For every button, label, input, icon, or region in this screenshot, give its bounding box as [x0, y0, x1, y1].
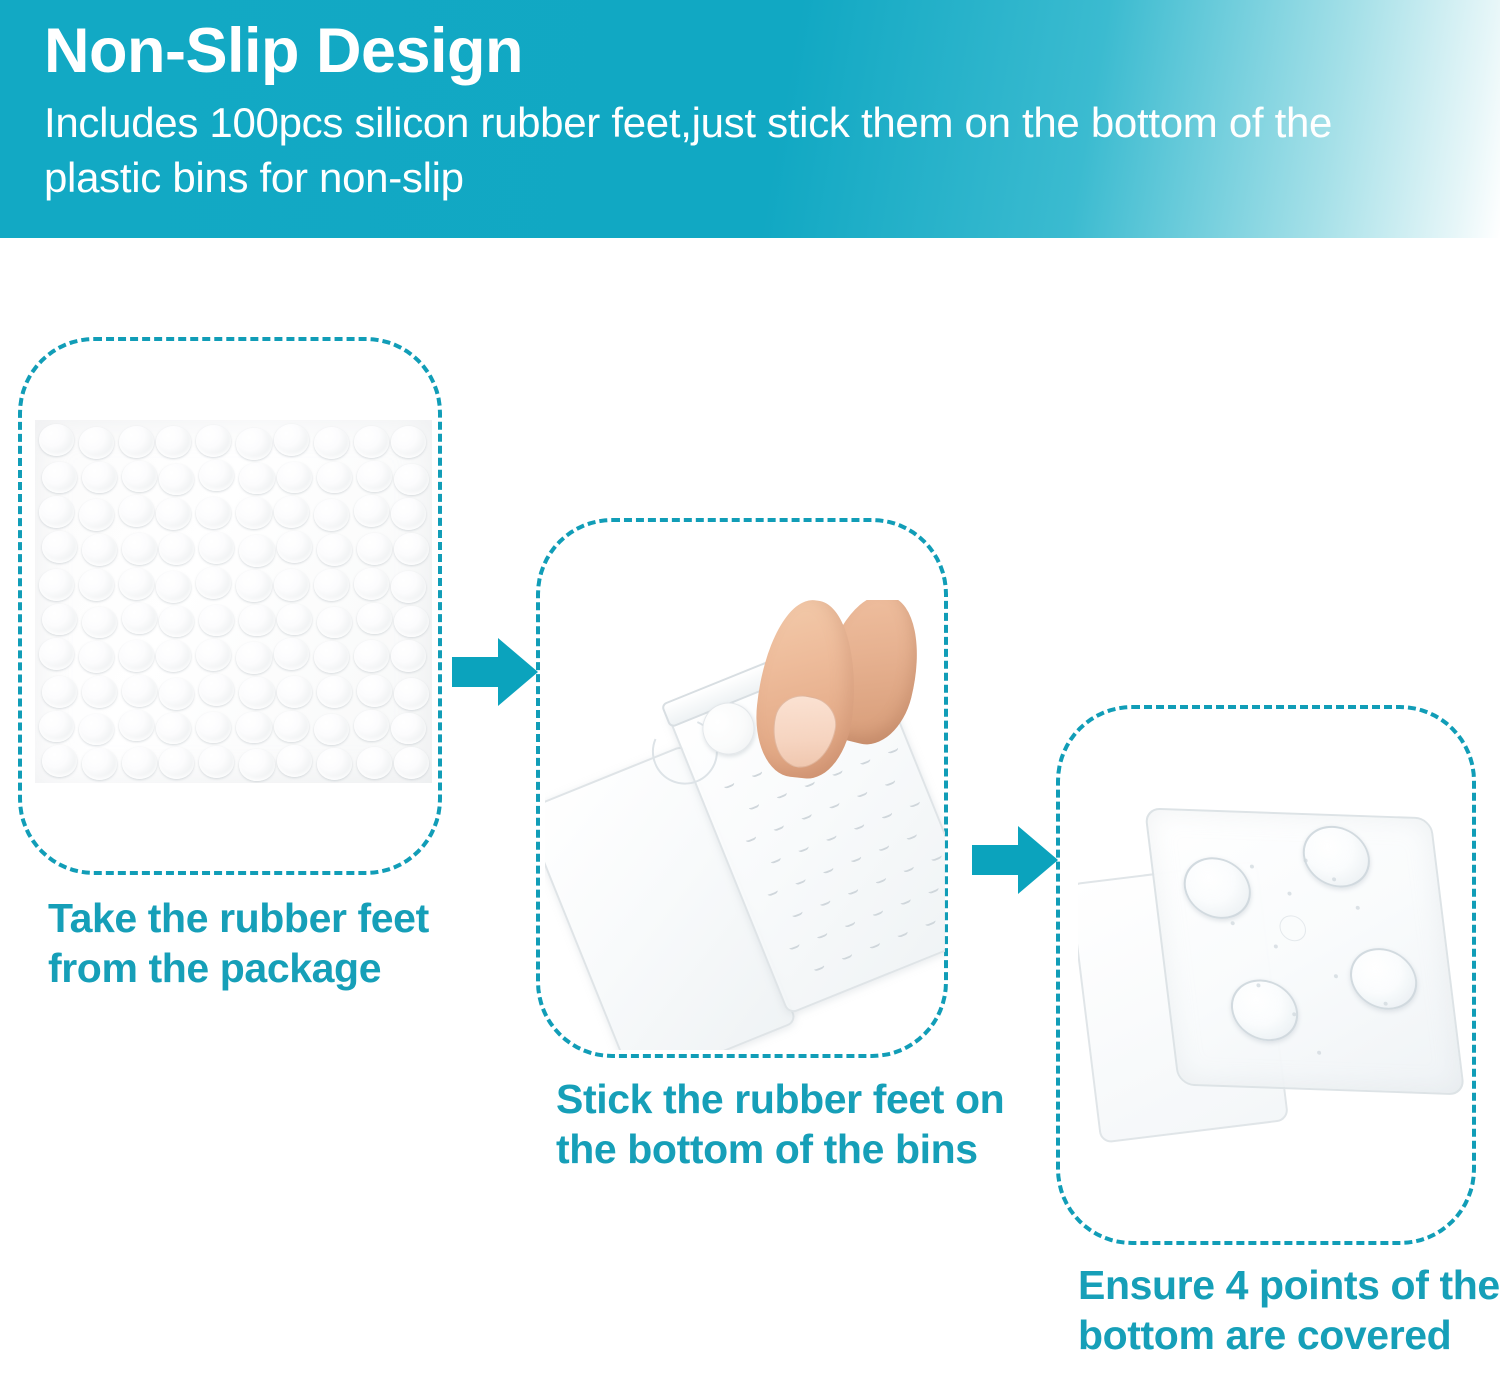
rubber-foot-dot: [357, 747, 392, 779]
rubber-foot-dot: [156, 571, 191, 603]
step-2-caption: Stick the rubber feet on the bottom of t…: [556, 1074, 1006, 1175]
rubber-foot-dot: [39, 496, 74, 528]
rubber-foot-dot: [354, 426, 389, 458]
rubber-foot-dot: [277, 462, 312, 494]
rubber-foot-dot: [42, 745, 77, 777]
rubber-foot-bottom-left: [1227, 978, 1301, 1042]
rubber-foot-dot: [122, 747, 157, 779]
rubber-foot-dot: [199, 605, 234, 637]
bin-texture-tick: [828, 799, 841, 810]
bin-texture-tick: [899, 895, 912, 906]
rubber-foot-dot: [357, 533, 392, 565]
header-banner: Non-Slip Design Includes 100pcs silicon …: [0, 0, 1500, 238]
rubber-foot-dot: [274, 424, 309, 456]
rubber-foot-dot: [196, 497, 231, 529]
rubber-foot-dot: [236, 570, 271, 602]
bin-texture-tick: [846, 885, 859, 896]
rubber-foot-dot: [156, 713, 191, 745]
rubber-foot-dot: [394, 606, 429, 638]
bin-texture-tick: [855, 788, 868, 799]
rubber-foot-top-left: [1180, 856, 1254, 920]
rubber-foot-dot: [82, 607, 117, 639]
bin-texture-tick: [868, 939, 881, 950]
rubber-foot-dot: [42, 604, 77, 636]
rubber-foot-dot: [82, 462, 117, 494]
rubber-foot-dot: [156, 426, 191, 458]
bin-texture-tick: [840, 950, 853, 961]
rubber-foot-dot: [354, 640, 389, 672]
rubber-feet-sheet-image: [35, 420, 432, 783]
bin-texture-tick: [874, 874, 887, 885]
rubber-foot-top-right: [1299, 825, 1373, 889]
bin-texture-tick: [818, 896, 831, 907]
rubber-foot-dot: [236, 428, 271, 460]
rubber-foot-dot: [394, 533, 429, 565]
rubber-foot-dot: [274, 569, 309, 601]
rubber-foot-dot: [236, 642, 271, 674]
rubber-foot-dot: [391, 426, 426, 458]
rubber-foot-dot: [239, 535, 274, 567]
bin-texture-tick: [769, 854, 782, 865]
rubber-foot-dot: [82, 676, 117, 708]
rubber-foot-dot: [391, 713, 426, 745]
rubber-foot-dot: [239, 677, 274, 709]
rubber-foot-dot: [314, 714, 349, 746]
bin-surface-specks: [1146, 810, 1429, 820]
bin-texture-tick: [794, 875, 807, 886]
rubber-foot-dot: [277, 745, 312, 777]
rubber-foot-dot: [317, 676, 352, 708]
surface-speck: [1292, 1012, 1297, 1016]
surface-speck: [1383, 1002, 1388, 1006]
rubber-foot-dot: [122, 675, 157, 707]
rubber-foot-dot: [79, 427, 114, 459]
hand-sticking-foot-image: [545, 600, 945, 1050]
rubber-foot-dot: [159, 678, 194, 710]
rubber-foot-dot: [317, 748, 352, 780]
rubber-foot-dot: [39, 638, 74, 670]
bin-texture-tick: [788, 940, 801, 951]
bin-texture-tick: [905, 830, 918, 841]
rubber-foot-dot: [314, 641, 349, 673]
surface-speck: [1303, 858, 1308, 862]
bin-texture-tick: [744, 833, 757, 844]
rubber-foot-dot: [239, 749, 274, 781]
rubber-foot-dot: [274, 638, 309, 670]
rubber-foot-dot: [236, 497, 271, 529]
surface-speck: [1274, 944, 1279, 948]
rubber-foot-dot: [199, 460, 234, 492]
arrow-step-2-to-3-icon: [972, 822, 1058, 898]
rubber-foot-dot: [391, 498, 426, 530]
rubber-foot-dot: [317, 534, 352, 566]
rubber-foot-dot: [196, 712, 231, 744]
rubber-foot-dot: [236, 712, 271, 744]
rubber-foot-dot: [394, 678, 429, 710]
rubber-foot-dot: [196, 639, 231, 671]
rubber-foot-dot: [79, 569, 114, 601]
rubber-foot-dot: [119, 710, 154, 742]
bin-texture-tick: [843, 918, 856, 929]
bin-texture-tick: [812, 961, 825, 972]
bin-texture-tick: [775, 789, 788, 800]
rubber-feet-grid: [35, 420, 432, 783]
rubber-foot-dot: [42, 531, 77, 563]
bin-texture-tick: [824, 831, 837, 842]
rubber-foot-dot: [79, 499, 114, 531]
rubber-foot-dot: [391, 640, 426, 672]
rubber-foot-dot: [156, 640, 191, 672]
bin-texture-tick: [797, 843, 810, 854]
rubber-foot-dot: [199, 674, 234, 706]
rubber-foot-dot: [119, 568, 154, 600]
rubber-foot-dot: [274, 711, 309, 743]
rubber-foot-dot: [314, 427, 349, 459]
surface-speck: [1317, 1051, 1322, 1055]
thumbnail: [766, 690, 842, 773]
page-title: Non-Slip Design: [44, 16, 1500, 87]
rubber-foot-dot: [277, 676, 312, 708]
rubber-foot-dot: [42, 676, 77, 708]
header-subtitle: Includes 100pcs silicon rubber feet,just…: [44, 95, 1374, 207]
rubber-foot-dot: [277, 604, 312, 636]
rubber-foot-dot: [274, 496, 309, 528]
rubber-foot-dot: [357, 603, 392, 635]
bin-texture-tick: [871, 906, 884, 917]
rubber-foot-dot: [79, 641, 114, 673]
rubber-foot-dot: [357, 675, 392, 707]
bin-texture-tick: [902, 863, 915, 874]
rubber-foot-dot: [42, 462, 77, 494]
rubber-foot-dot: [119, 640, 154, 672]
step-1-caption: Take the rubber feet from the package: [48, 893, 468, 994]
bin-texture-tick: [852, 820, 865, 831]
rubber-foot-dot: [79, 714, 114, 746]
rubber-foot-dot: [119, 495, 154, 527]
bin-texture-tick: [908, 798, 921, 809]
bin-texture-tick: [927, 884, 940, 895]
bin-texture-tick: [791, 908, 804, 919]
rubber-foot-dot: [196, 425, 231, 457]
rubber-foot-dot: [199, 746, 234, 778]
clear-bin-upside-down: [1078, 800, 1475, 1168]
surface-speck: [1334, 974, 1339, 978]
bin-logo-emboss: [1278, 915, 1307, 942]
bin-texture-tick: [880, 809, 893, 820]
surface-speck: [1332, 877, 1337, 881]
bin-bottom-surface: [1144, 807, 1465, 1095]
bin-texture-tick: [772, 821, 785, 832]
rubber-foot-dot: [122, 603, 157, 635]
rubber-foot-dot: [196, 567, 231, 599]
bin-texture-tick: [800, 810, 813, 821]
bin-bottom-with-feet-image: [1078, 800, 1478, 1190]
rubber-foot-dot: [394, 464, 429, 496]
rubber-foot-dot: [239, 605, 274, 637]
bin-texture-tick: [924, 916, 937, 927]
surface-speck: [1256, 983, 1261, 987]
rubber-foot-dot: [354, 568, 389, 600]
bin-texture-tick: [877, 841, 890, 852]
rubber-foot-dot: [119, 426, 154, 458]
surface-speck: [1230, 921, 1235, 925]
rubber-foot-dot: [314, 499, 349, 531]
surface-speck: [1287, 892, 1292, 896]
bin-texture-tick: [821, 864, 834, 875]
rubber-foot-dot: [156, 498, 191, 530]
bin-texture-tick: [849, 853, 862, 864]
rubber-foot-dot: [82, 534, 117, 566]
hand-icon: [753, 600, 913, 785]
rubber-foot-dot: [122, 461, 157, 493]
bin-texture-tick: [896, 928, 909, 939]
rubber-foot-dot: [159, 747, 194, 779]
rubber-foot-dot: [239, 463, 274, 495]
surface-speck: [1250, 865, 1255, 869]
rubber-foot-dot: [39, 424, 74, 456]
rubber-foot-dot: [159, 533, 194, 565]
rubber-foot-dot: [317, 607, 352, 639]
rubber-foot-dot: [199, 532, 234, 564]
rubber-foot-dot: [314, 569, 349, 601]
rubber-foot-dot: [39, 711, 74, 743]
rubber-foot-dot: [82, 748, 117, 780]
bin-texture-tick: [815, 929, 828, 940]
bin-texture-tick: [930, 851, 943, 862]
rubber-foot-dot: [159, 464, 194, 496]
rubber-foot-dot: [391, 571, 426, 603]
rubber-foot-dot: [354, 710, 389, 742]
bin-texture-tick: [766, 886, 779, 897]
rubber-foot-dot: [394, 747, 429, 779]
rubber-foot-dot: [354, 495, 389, 527]
rubber-foot-dot: [39, 569, 74, 601]
rubber-foot-dot: [317, 462, 352, 494]
arrow-step-1-to-2-icon: [452, 634, 538, 710]
rubber-foot-dot: [277, 531, 312, 563]
rubber-foot-dot: [357, 461, 392, 493]
bin-texture-tick: [747, 800, 760, 811]
step-3-caption: Ensure 4 points of the bottom are covere…: [1078, 1260, 1500, 1361]
surface-speck: [1355, 906, 1360, 910]
rubber-foot-dot: [159, 606, 194, 638]
rubber-foot-dot: [122, 533, 157, 565]
